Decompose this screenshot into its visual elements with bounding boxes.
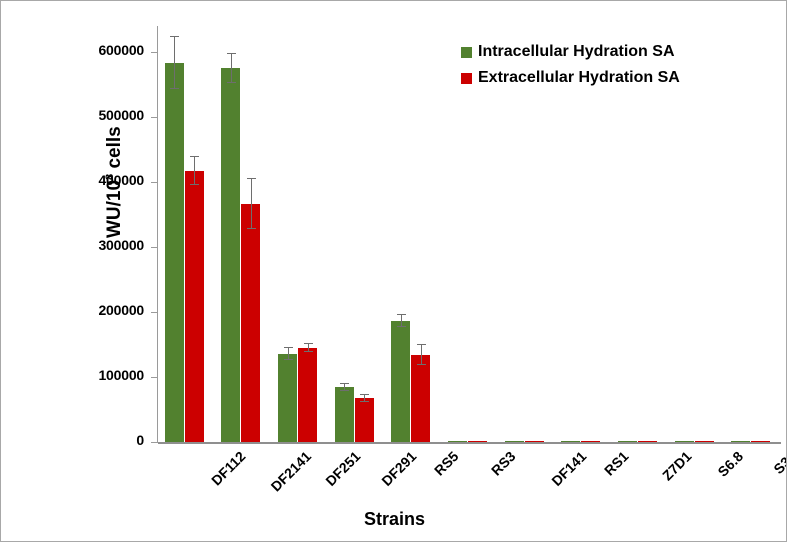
bar-group [221, 26, 260, 442]
error-bar-cap [284, 359, 293, 360]
x-tick-label: S6.8 [714, 448, 746, 480]
y-tick-mark [151, 117, 158, 118]
error-bar-cap [360, 401, 369, 402]
bar-group [278, 26, 317, 442]
error-bar-cap [417, 344, 426, 345]
legend-item: Extracellular Hydration SA [461, 65, 680, 91]
x-tick-label: RS3 [487, 448, 518, 479]
error-bar [421, 345, 422, 366]
bar-extracellular [298, 348, 317, 442]
error-bar-cap [360, 394, 369, 395]
bar-intracellular [221, 68, 240, 442]
error-bar-cap [247, 228, 256, 229]
error-bar-cap [417, 364, 426, 365]
y-tick-mark [151, 52, 158, 53]
error-bar-cap [340, 383, 349, 384]
bar-extracellular [751, 441, 770, 442]
x-tick-label: S33 [770, 448, 787, 477]
bar-extracellular [638, 441, 657, 442]
bar-intracellular [278, 354, 297, 442]
bar-group [731, 26, 770, 442]
error-bar-cap [190, 156, 199, 157]
y-axis-title: WU/108 cells [104, 62, 126, 302]
error-bar-cap [170, 36, 179, 37]
y-tick-label: 0 [136, 432, 144, 448]
error-bar-cap [397, 314, 406, 315]
bar-extracellular [185, 171, 204, 442]
y-axis-title-main: WU/10 [104, 180, 125, 238]
error-bar [231, 54, 232, 83]
x-tick-label: DF291 [379, 448, 420, 489]
x-tick-label: DF251 [322, 448, 363, 489]
bar-extracellular [411, 355, 430, 442]
bar-extracellular [695, 441, 714, 442]
error-bar-cap [304, 343, 313, 344]
bar-intracellular [391, 321, 410, 442]
error-bar [194, 157, 195, 184]
bar-group [165, 26, 204, 442]
error-bar-cap [340, 390, 349, 391]
y-tick-mark [151, 312, 158, 313]
x-axis-line [158, 442, 781, 444]
y-tick-mark [151, 182, 158, 183]
error-bar-cap [247, 178, 256, 179]
error-bar-cap [397, 326, 406, 327]
error-bar-cap [284, 347, 293, 348]
legend-swatch-icon [461, 73, 472, 84]
error-bar [174, 37, 175, 89]
chart-legend: Intracellular Hydration SAExtracellular … [461, 39, 680, 91]
bar-intracellular [675, 441, 694, 442]
y-tick-mark [151, 442, 158, 443]
bar-intracellular [165, 63, 184, 442]
y-axis-title-tail: cells [104, 126, 125, 174]
y-tick-label: 200000 [98, 302, 144, 318]
bar-intracellular [561, 441, 580, 442]
bar-extracellular [581, 441, 600, 442]
y-tick-mark [151, 377, 158, 378]
bar-extracellular [355, 398, 374, 442]
bar-intracellular [505, 441, 524, 442]
bar-extracellular [241, 204, 260, 442]
bar-intracellular [448, 441, 467, 442]
legend-item: Intracellular Hydration SA [461, 39, 680, 65]
error-bar-cap [227, 53, 236, 54]
bar-extracellular [468, 441, 487, 442]
bar-extracellular [525, 441, 544, 442]
y-tick-label: 600000 [98, 42, 144, 58]
bar-intracellular [335, 387, 354, 442]
bar-intracellular [618, 441, 637, 442]
error-bar-cap [190, 184, 199, 185]
chart-figure: 0100000200000300000400000500000600000 WU… [0, 0, 787, 542]
x-tick-label: DF141 [548, 448, 589, 489]
bar-intracellular [731, 441, 750, 442]
x-tick-label: DF2141 [268, 448, 315, 495]
error-bar-cap [227, 82, 236, 83]
legend-label: Extracellular Hydration SA [478, 69, 680, 87]
bar-group [391, 26, 430, 442]
error-bar-cap [170, 88, 179, 89]
x-axis-title: Strains [1, 509, 787, 530]
error-bar-cap [304, 351, 313, 352]
y-tick-mark [151, 247, 158, 248]
x-tick-label: RS5 [431, 448, 462, 479]
legend-label: Intracellular Hydration SA [478, 43, 675, 61]
bar-group [335, 26, 374, 442]
y-axis-title-exponent: 8 [104, 174, 116, 180]
error-bar [251, 179, 252, 230]
bar-group [675, 26, 714, 442]
legend-swatch-icon [461, 47, 472, 58]
x-tick-label: RS1 [601, 448, 632, 479]
x-tick-label: Z7D1 [659, 448, 695, 484]
x-tick-label: DF112 [208, 448, 248, 488]
y-tick-label: 100000 [98, 367, 144, 383]
